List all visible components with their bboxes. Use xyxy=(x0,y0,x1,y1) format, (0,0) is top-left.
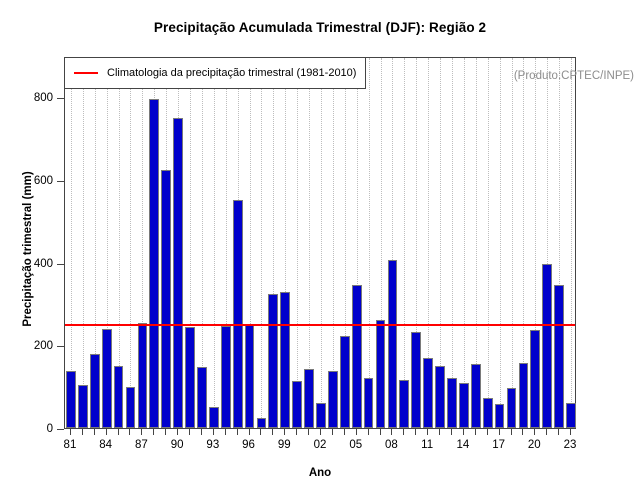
x-tick-mark xyxy=(463,429,464,435)
y-tick-label: 0 xyxy=(47,423,53,435)
x-tick-label: 99 xyxy=(278,439,291,451)
legend-item-label: Climatologia da precipitação trimestral … xyxy=(107,67,356,79)
x-tick-mark xyxy=(225,429,226,435)
x-tick-label: 87 xyxy=(135,439,148,451)
x-tick-mark xyxy=(499,429,500,435)
y-axis: Precipitação trimestral (mm) 02004006008… xyxy=(0,0,64,500)
x-tick-mark xyxy=(368,429,369,435)
legend-line-swatch xyxy=(74,72,98,74)
x-tick-label: 81 xyxy=(64,439,77,451)
y-tick-label: 400 xyxy=(34,258,53,270)
x-tick-mark xyxy=(201,429,202,435)
x-tick-mark xyxy=(558,429,559,435)
x-tick-label: 84 xyxy=(99,439,112,451)
y-tick-mark xyxy=(57,181,64,182)
x-axis: Ano 818487909396990205081114172023 xyxy=(64,429,576,500)
x-tick-mark xyxy=(522,429,523,435)
x-tick-mark xyxy=(118,429,119,435)
y-tick-mark xyxy=(57,429,64,430)
x-tick-label: 08 xyxy=(385,439,398,451)
x-tick-label: 02 xyxy=(314,439,327,451)
x-tick-mark xyxy=(487,429,488,435)
x-tick-label: 11 xyxy=(421,439,433,451)
chart-figure: Precipitação Acumulada Trimestral (DJF):… xyxy=(0,0,640,500)
x-tick-label: 05 xyxy=(349,439,362,451)
x-tick-mark xyxy=(272,429,273,435)
x-tick-mark xyxy=(260,429,261,435)
page-title: Precipitação Acumulada Trimestral (DJF):… xyxy=(0,20,640,35)
x-tick-mark xyxy=(332,429,333,435)
climatology-layer xyxy=(65,58,575,428)
x-tick-mark xyxy=(237,429,238,435)
y-axis-title: Precipitação trimestral (mm) xyxy=(22,129,34,369)
x-tick-mark xyxy=(451,429,452,435)
x-tick-mark xyxy=(475,429,476,435)
plot-area xyxy=(64,57,576,429)
x-tick-mark xyxy=(391,429,392,435)
x-tick-mark xyxy=(427,429,428,435)
x-tick-mark xyxy=(511,429,512,435)
x-tick-label: 90 xyxy=(171,439,184,451)
product-credit: (Produto:CPTEC/INPE) xyxy=(514,70,634,82)
x-tick-label: 20 xyxy=(528,439,541,451)
y-tick-mark xyxy=(57,98,64,99)
x-tick-label: 93 xyxy=(206,439,219,451)
y-tick-label: 200 xyxy=(34,340,53,352)
x-tick-mark xyxy=(546,429,547,435)
x-axis-title: Ano xyxy=(64,467,576,479)
x-tick-mark xyxy=(380,429,381,435)
x-tick-mark xyxy=(106,429,107,435)
y-tick-label: 600 xyxy=(34,175,53,187)
x-tick-label: 14 xyxy=(456,439,469,451)
y-tick-mark xyxy=(57,346,64,347)
x-tick-mark xyxy=(177,429,178,435)
x-tick-mark xyxy=(189,429,190,435)
x-tick-mark xyxy=(70,429,71,435)
x-tick-mark xyxy=(165,429,166,435)
x-tick-label: 23 xyxy=(564,439,577,451)
climatology-line xyxy=(65,324,575,326)
legend: Climatologia da precipitação trimestral … xyxy=(64,57,366,89)
x-tick-mark xyxy=(403,429,404,435)
x-tick-mark xyxy=(308,429,309,435)
y-tick-label: 800 xyxy=(34,92,53,104)
y-tick-mark xyxy=(57,264,64,265)
x-tick-mark xyxy=(570,429,571,435)
x-tick-label: 17 xyxy=(492,439,505,451)
x-tick-mark xyxy=(82,429,83,435)
x-tick-mark xyxy=(129,429,130,435)
x-tick-mark xyxy=(320,429,321,435)
x-tick-mark xyxy=(284,429,285,435)
x-tick-mark xyxy=(439,429,440,435)
x-tick-mark xyxy=(249,429,250,435)
x-tick-mark xyxy=(141,429,142,435)
x-tick-label: 96 xyxy=(242,439,255,451)
x-tick-mark xyxy=(296,429,297,435)
x-tick-mark xyxy=(415,429,416,435)
x-tick-mark xyxy=(344,429,345,435)
x-tick-mark xyxy=(153,429,154,435)
x-tick-mark xyxy=(94,429,95,435)
x-tick-mark xyxy=(213,429,214,435)
x-tick-mark xyxy=(534,429,535,435)
x-tick-mark xyxy=(356,429,357,435)
